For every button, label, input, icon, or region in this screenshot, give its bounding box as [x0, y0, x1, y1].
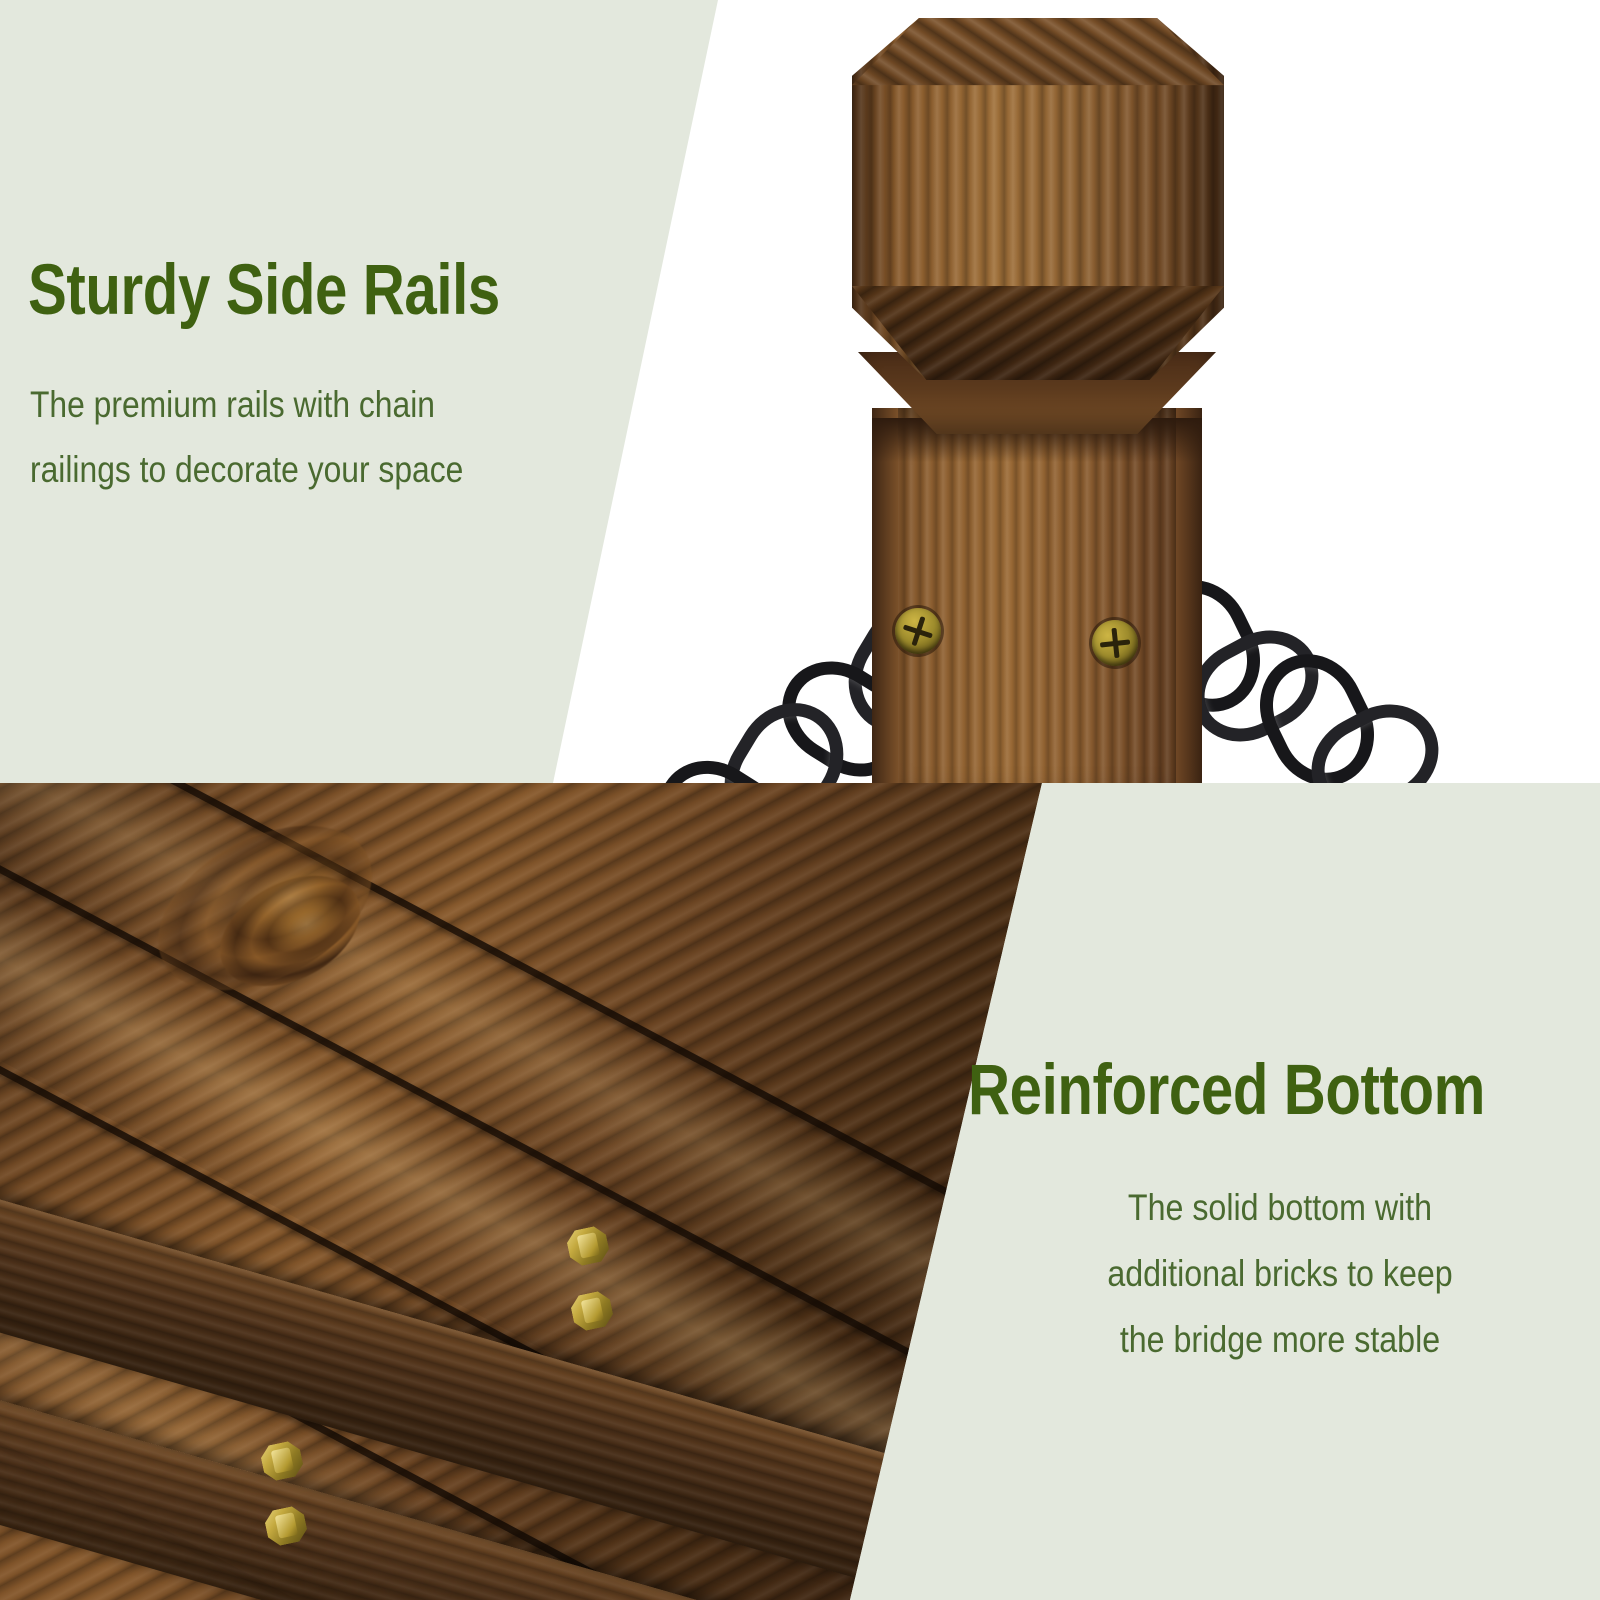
body-line: the bridge more stable [1036, 1307, 1523, 1373]
panel-sturdy-side-rails: Sturdy Side Rails The premium rails with… [0, 0, 1600, 783]
body-line: railings to decorate your space [30, 437, 546, 502]
top-text-block: Sturdy Side Rails The premium rails with… [0, 0, 660, 783]
post-shaft-bevel-right [1176, 408, 1202, 783]
product-feature-infographic: Sturdy Side Rails The premium rails with… [0, 0, 1600, 1600]
body-line: The premium rails with chain [30, 372, 546, 437]
post-shaft-bevel-left [872, 408, 898, 783]
post-photo [620, 0, 1600, 783]
body-line: The solid bottom with [1036, 1175, 1523, 1241]
body-reinforced-bottom: The solid bottom with additional bricks … [1036, 1175, 1523, 1373]
heading-sturdy-side-rails: Sturdy Side Rails [28, 255, 536, 326]
heading-reinforced-bottom: Reinforced Bottom [968, 1055, 1476, 1126]
body-line: additional bricks to keep [1036, 1241, 1523, 1307]
body-sturdy-side-rails: The premium rails with chain railings to… [30, 372, 546, 502]
post-shaft [872, 408, 1202, 783]
